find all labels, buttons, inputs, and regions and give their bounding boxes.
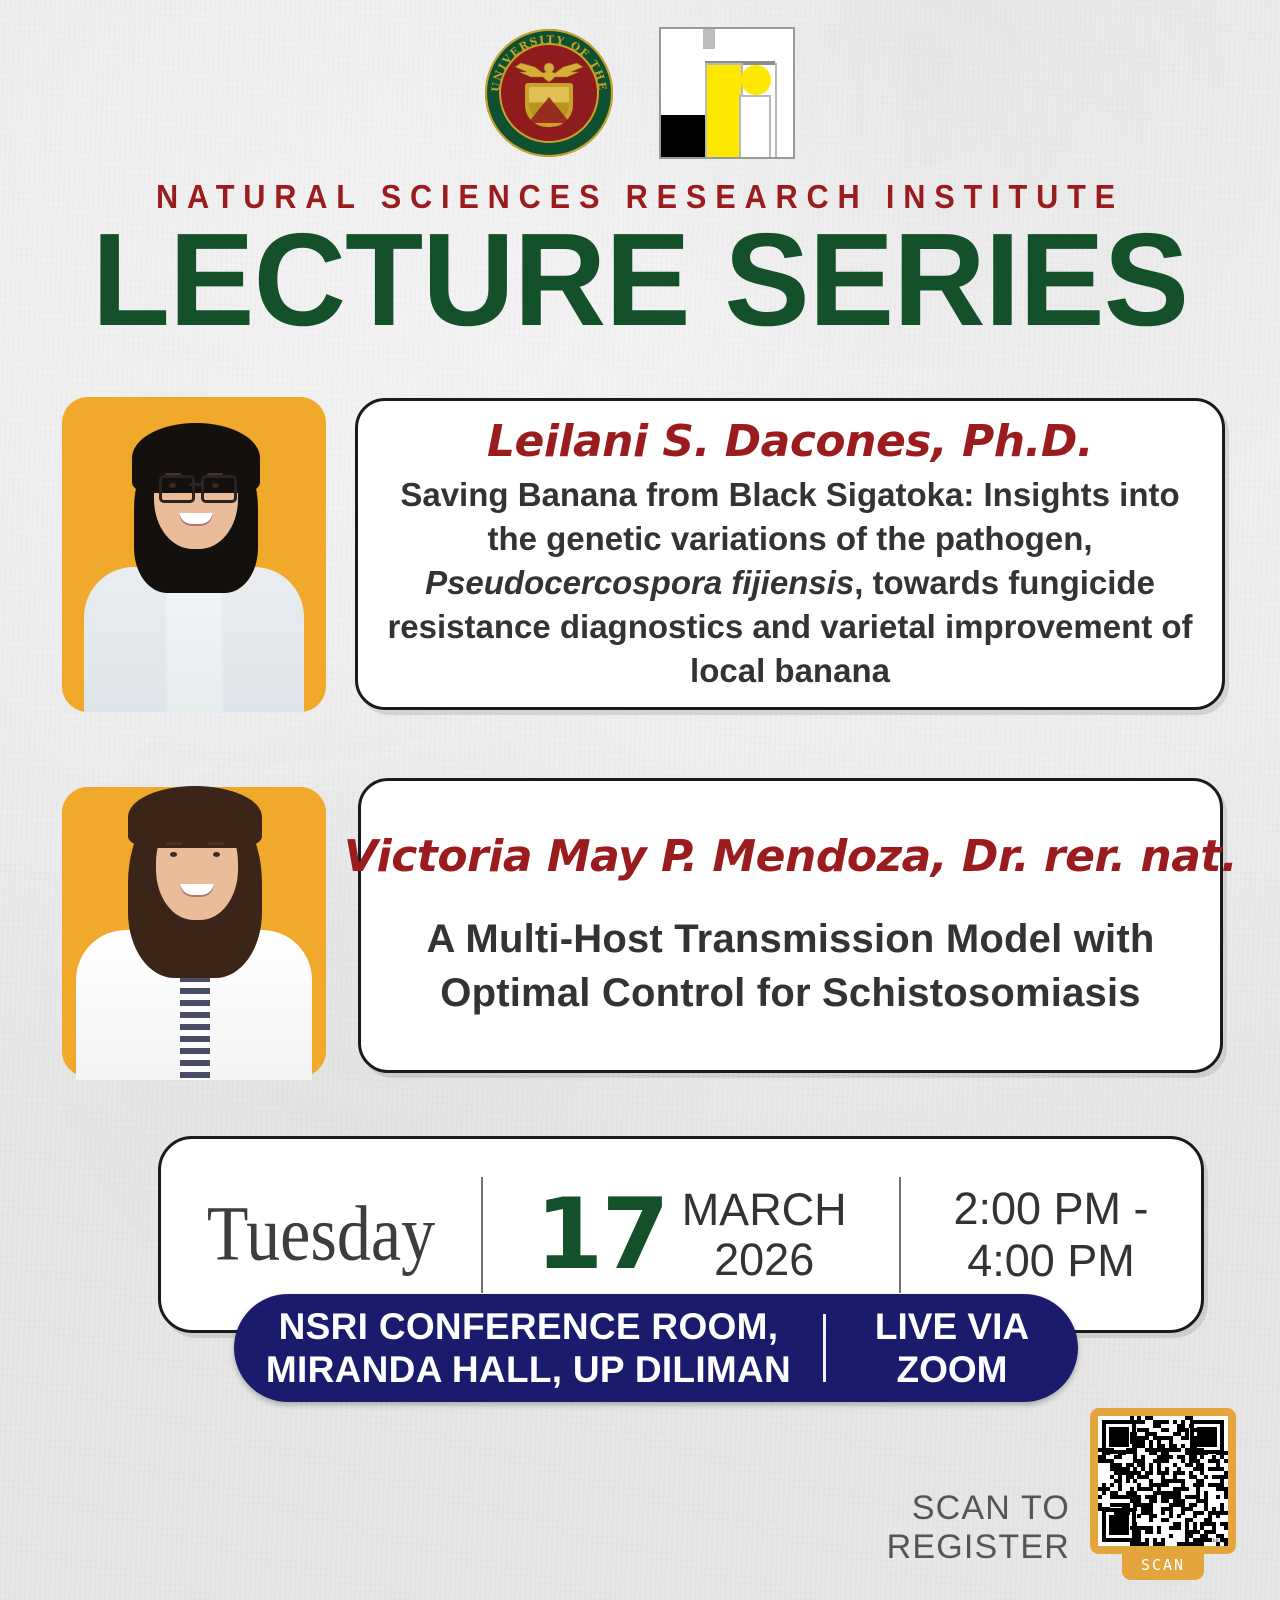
page-title: LECTURE SERIES (19, 214, 1261, 346)
speaker-name-1: Leilani S. Dacones, Ph.D. (487, 416, 1093, 467)
mode-line-2: ZOOM (826, 1348, 1078, 1391)
up-seal-inner-disc (501, 45, 597, 141)
up-seal-logo: UNIVERSITY OF THE PHILIPPINES 1908 (485, 29, 613, 157)
qr-scan-tab: SCAN (1122, 1550, 1204, 1580)
event-month: MARCH (682, 1184, 847, 1235)
speaker-talk-title-1: Saving Banana from Black Sigatoka: Insig… (384, 473, 1196, 693)
mode-line-1: LIVE VIA (826, 1305, 1078, 1348)
event-day: 17 (535, 1186, 667, 1284)
event-time-start: 2:00 PM - (953, 1183, 1148, 1234)
poster-root: UNIVERSITY OF THE PHILIPPINES 1908 (0, 0, 1280, 1600)
nsri-logo-black-block (661, 115, 709, 157)
nsri-logo (659, 27, 795, 159)
venue-location: NSRI CONFERENCE ROOM, MIRANDA HALL, UP D… (234, 1305, 823, 1391)
venue-line-1: NSRI CONFERENCE ROOM, (234, 1305, 823, 1348)
talk-title-species: Pseudocercospora fijiensis (425, 564, 854, 601)
talk-title-part: Saving Banana from Black Sigatoka: Insig… (400, 476, 1179, 557)
speaker-card-1: Leilani S. Dacones, Ph.D. Saving Banana … (355, 398, 1225, 710)
scan-to-register-label: SCAN TO REGISTER (770, 1489, 1070, 1567)
speaker-card-2: Victoria May P. Mendoza, Dr. rer. nat. A… (358, 778, 1223, 1073)
event-year: 2026 (682, 1235, 847, 1285)
venue-banner: NSRI CONFERENCE ROOM, MIRANDA HALL, UP D… (234, 1294, 1078, 1402)
nsri-logo-yellow-stem (705, 63, 743, 159)
event-time-end: 4:00 PM (967, 1235, 1135, 1286)
up-seal-shield-icon (525, 83, 573, 127)
nsri-logo-i-stem (739, 95, 771, 159)
event-weekday: Tuesday (174, 1189, 468, 1279)
speaker-name-2: Victoria May P. Mendoza, Dr. rer. nat. (344, 831, 1237, 882)
venue-line-2: MIRANDA HALL, UP DILIMAN (234, 1348, 823, 1391)
nsri-logo-yellow-dot (741, 65, 771, 95)
qr-code-block[interactable]: bit.ly SCAN (1090, 1408, 1236, 1584)
nsri-logo-notch (703, 29, 715, 49)
event-month-year: MARCH 2026 (682, 1185, 847, 1285)
venue-mode: LIVE VIA ZOOM (826, 1305, 1078, 1391)
divider (899, 1177, 901, 1293)
speaker-photo-1 (62, 397, 326, 712)
qr-code-image[interactable]: bit.ly (1098, 1416, 1228, 1546)
qr-code-frame: bit.ly (1090, 1408, 1236, 1554)
divider (481, 1177, 483, 1293)
divider (823, 1314, 826, 1382)
event-date-group: 17 MARCH 2026 (483, 1185, 899, 1285)
event-time: 2:00 PM - 4:00 PM (901, 1183, 1201, 1287)
speaker-photo-2 (62, 787, 326, 1077)
nsri-logo-right-panel (775, 63, 793, 157)
speaker-talk-title-2: A Multi-Host Transmission Model with Opt… (387, 912, 1194, 1020)
logo-row: UNIVERSITY OF THE PHILIPPINES 1908 (0, 18, 1280, 168)
